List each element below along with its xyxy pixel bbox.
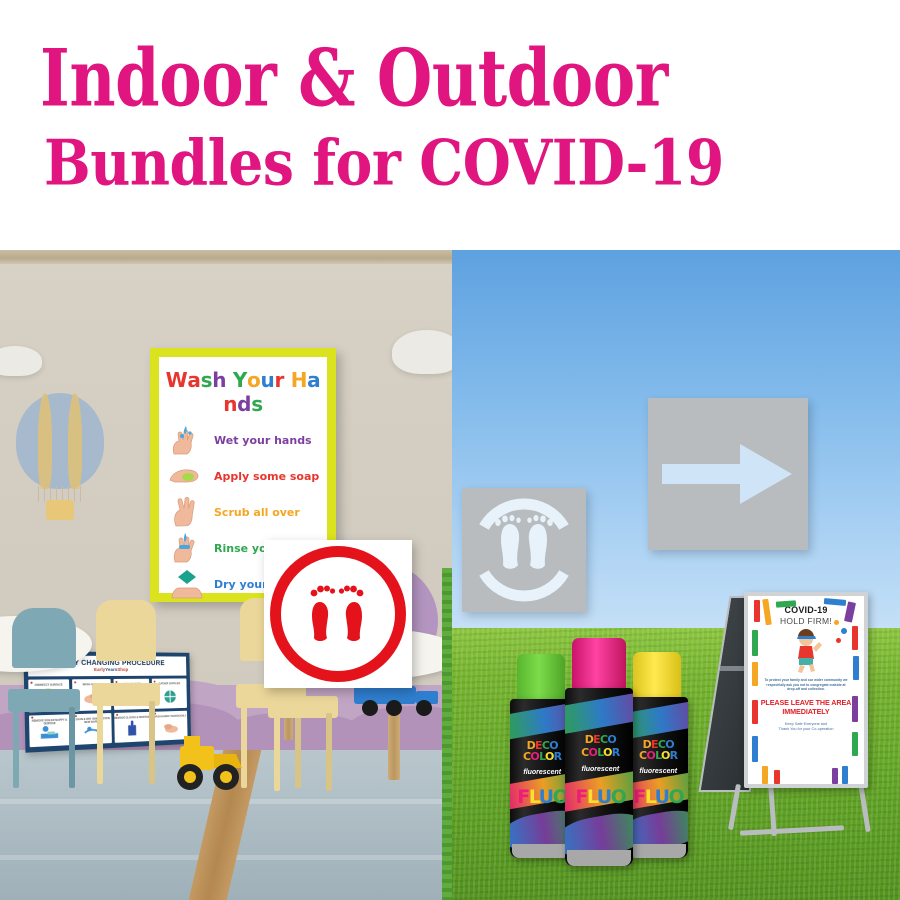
spray-can-base <box>512 844 570 858</box>
photo-strip: NAPPY CHANGING PROCEDURE EarlyYearsShop … <box>0 250 900 900</box>
soap-icon <box>166 460 208 492</box>
wash-step-row: Apply some soap <box>159 458 327 494</box>
wash-title-letter: s <box>201 368 213 392</box>
crayon-icon <box>774 770 780 784</box>
alert-line-2: IMMEDIATELY <box>748 707 864 716</box>
header-banner: Indoor & Outdoor Bundles for COVID-19 <box>0 0 900 250</box>
spray-can: DECO COLOR fluorescent FLUO <box>565 638 633 866</box>
crayon-icon <box>752 736 758 762</box>
can-product-name: FLUO <box>514 786 571 808</box>
wash-title-letter: u <box>260 368 274 392</box>
covid-poster: COVID-19 HOLD FIRM! To prote <box>748 596 864 784</box>
wash-title-letter <box>226 368 233 392</box>
poster-page: Indoor & Outdoor Bundles for COVID-19 <box>0 0 900 900</box>
wash-title-letter: Y <box>233 368 247 392</box>
page-title-line-2: Bundles for COVID-19 <box>44 132 724 195</box>
indoor-scene-panel: NAPPY CHANGING PROCEDURE EarlyYearsShop … <box>0 250 452 900</box>
can-brand-line-1: DECO <box>569 734 632 745</box>
wash-title-letter: r <box>274 368 284 392</box>
toy-digger-icon <box>160 730 252 792</box>
a-board-leg <box>858 784 870 832</box>
wall-lamp-icon <box>0 346 42 376</box>
wet-hands-icon <box>166 424 208 456</box>
crayon-icon <box>852 626 858 650</box>
spray-can-base <box>567 850 631 866</box>
crayon-icon <box>752 700 758 724</box>
alert-line-1: PLEASE LEAVE THE AREA <box>748 698 864 707</box>
wash-poster-title: Wash Your Hands <box>159 368 327 416</box>
arrow-right-icon <box>660 438 796 510</box>
wash-title-letter: H <box>291 368 307 392</box>
wash-title-letter: a <box>307 368 320 392</box>
dry-hands-icon <box>166 568 208 600</box>
crayon-icon <box>853 656 859 680</box>
crayon-icon <box>752 630 758 656</box>
ceiling-trim <box>0 250 452 264</box>
footprints-circle-icon <box>462 488 586 612</box>
can-product-name: FLUO <box>569 786 632 808</box>
wash-title-letter: a <box>187 368 200 392</box>
spray-can-body: DECO COLOR fluorescent FLUO <box>626 697 688 858</box>
crayon-icon <box>832 768 838 784</box>
wash-step-label: Apply some soap <box>214 470 319 483</box>
arrow-stencil <box>648 398 808 550</box>
wash-title-letter: W <box>166 368 188 392</box>
crayon-icon <box>852 732 858 756</box>
wall-lamp-icon <box>392 330 452 374</box>
balloon-basket <box>46 500 74 520</box>
covid-poster-body: To protect your family and our wider com… <box>748 678 864 692</box>
red-footprints-icon <box>306 578 372 650</box>
wash-step-row: Scrub all over <box>159 494 327 530</box>
wash-title-letter: s <box>251 392 263 416</box>
covid-poster-footer: Keep Safe Everyone and Thank You for you… <box>748 722 864 733</box>
grass-edge-strip <box>442 568 452 900</box>
crayon-icon <box>762 766 768 784</box>
wash-title-letter <box>284 368 291 392</box>
spray-can: DECO COLOR fluorescent FLUO <box>510 654 572 858</box>
social-distancing-floor-sticker <box>264 540 412 688</box>
can-brand-line-2: COLOR <box>514 751 571 762</box>
can-brand-line-2: COLOR <box>630 750 687 761</box>
wash-title-letter: d <box>237 392 251 416</box>
covid-poster-alert: PLEASE LEAVE THE AREA IMMEDIATELY <box>748 698 864 716</box>
outdoor-scene-panel: COVID-19 HOLD FIRM! To prote <box>452 250 900 900</box>
child-chair <box>96 600 156 780</box>
footer-line-2: Thank You for your Co-operation <box>748 727 864 732</box>
spray-can-body: DECO COLOR fluorescent FLUO <box>565 688 633 866</box>
wash-step-label: Wet your hands <box>214 434 312 447</box>
a-board-sign: COVID-19 HOLD FIRM! To prote <box>714 592 884 848</box>
wash-title-letter: h <box>212 368 226 392</box>
page-title-line-1: Indoor & Outdoor <box>40 40 668 118</box>
hot-air-balloon-decal <box>16 393 104 489</box>
spray-can: DECO COLOR fluorescent FLUO <box>626 652 688 858</box>
spray-can-base <box>628 844 686 858</box>
wash-step-label: Scrub all over <box>214 506 300 519</box>
rinse-hands-icon <box>166 532 208 564</box>
wash-title-letter: n <box>223 392 237 416</box>
scrub-hands-icon <box>166 496 208 528</box>
crayon-icon <box>842 766 848 784</box>
crayon-icon <box>754 600 760 622</box>
footprints-stencil <box>462 488 586 612</box>
crayon-icon <box>752 662 758 686</box>
child-chair <box>12 608 76 784</box>
crayon-icon <box>852 696 858 722</box>
can-product-name: FLUO <box>630 786 687 808</box>
a-board-poster-frame: COVID-19 HOLD FIRM! To prote <box>744 592 868 788</box>
walking-child-icon <box>786 628 826 674</box>
a-board-foot-bar <box>740 825 844 835</box>
wash-step-row: Wet your hands <box>159 422 327 458</box>
can-brand-line-2: COLOR <box>569 747 632 758</box>
spray-can-body: DECO COLOR fluorescent FLUO <box>510 699 572 858</box>
wash-title-letter: o <box>247 368 260 392</box>
